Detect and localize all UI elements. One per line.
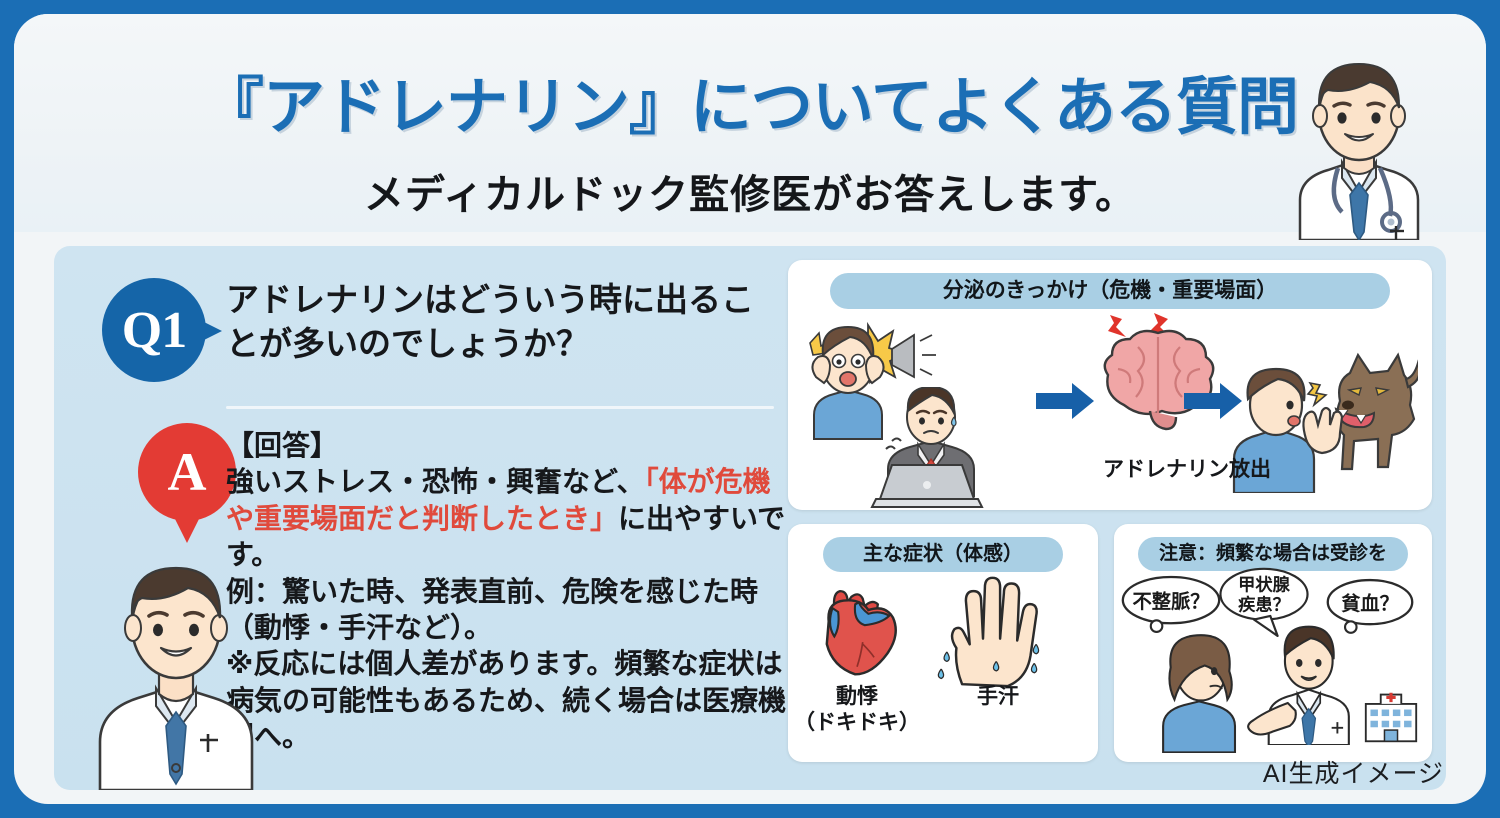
symptom-label-1: 動悸 （ドキドキ）	[792, 684, 922, 737]
poster-inner-frame: 『アドレナリン』についてよくある質問 メディカルドック監修医がお答えします。	[14, 14, 1486, 804]
figure-column: 分泌のきっかけ（危機・重要場面）	[788, 260, 1432, 776]
symptom-label-1-line1: 動悸	[836, 685, 878, 708]
symptom-label-1-line2: （ドキドキ）	[794, 711, 920, 734]
svg-text:疾患？: 疾患？	[1238, 594, 1290, 614]
poster-root: 『アドレナリン』についてよくある質問 メディカルドック監修医がお答えします。	[0, 0, 1500, 818]
header: 『アドレナリン』についてよくある質問 メディカルドック監修医がお答えします。	[14, 14, 1486, 232]
card-trigger-title: 分泌のきっかけ（危機・重要場面）	[830, 273, 1390, 309]
card-symptoms-title: 主な症状（体感）	[823, 537, 1063, 572]
page-title: 『アドレナリン』についてよくある質問	[14, 56, 1486, 146]
patient-icon	[1148, 629, 1252, 753]
answer-note: ※反応には個人差があります。頻繁な症状は病気の可能性もあるため、続く場合は医療機…	[226, 648, 786, 752]
question-text: アドレナリンはどういう時に出ることが多いのでしょうか？	[226, 278, 771, 365]
symptom-label-2: 手汗	[938, 684, 1058, 710]
thought-bubble-1: 不整脈？	[1118, 573, 1224, 633]
laptop-icon	[870, 459, 990, 510]
doctor-body-icon	[90, 546, 262, 790]
sweaty-hand-icon	[926, 574, 1040, 688]
svg-text:甲状腺: 甲状腺	[1238, 574, 1290, 594]
main-panel: Q1 アドレナリンはどういう時に出ることが多いのでしょうか？ A 【回答】 強い…	[54, 246, 1446, 790]
answer-badge: A	[138, 423, 236, 521]
heart-icon	[806, 576, 910, 680]
card-caution-title: 注意：頻繁な場合は受診を	[1138, 537, 1408, 571]
qa-column: Q1 アドレナリンはどういう時に出ることが多いのでしょうか？ A 【回答】 強い…	[54, 246, 794, 790]
page-subtitle: メディカルドック監修医がお答えします。	[14, 162, 1486, 220]
footer-note: AI生成イメージ	[1263, 754, 1444, 790]
question-badge: Q1	[102, 278, 206, 382]
arrow-icon	[1036, 381, 1096, 421]
hospital-icon	[1358, 689, 1424, 745]
card-caution: 注意：頻繁な場合は受診を 不整脈？ 甲状腺	[1114, 524, 1432, 762]
card-caution-figure: 不整脈？ 甲状腺 疾患？ 貧血？	[1114, 571, 1432, 761]
answer-text: 【回答】 強いストレス・恐怖・興奮など、「体が危機や重要場面だと判断したとき」に…	[226, 428, 786, 756]
answer-label: 【回答】	[226, 430, 338, 461]
bubble-text-1: 不整脈？	[1132, 590, 1209, 613]
divider	[226, 406, 774, 409]
card-symptoms-figure: 動悸 （ドキドキ） 手汗	[788, 572, 1098, 762]
card-trigger: 分泌のきっかけ（危機・重要場面）	[788, 260, 1432, 510]
svg-text:貧血？: 貧血？	[1341, 592, 1399, 615]
answer-line-pre: 強いストレス・恐怖・興奮など、	[226, 466, 645, 497]
doctor-icon	[1242, 621, 1366, 745]
card-symptoms: 主な症状（体感）	[788, 524, 1098, 762]
answer-example: 例：驚いた時、発表直前、危険を感じた時（動悸・手汗など）。	[226, 576, 758, 643]
doctor-avatar-icon	[1270, 50, 1450, 236]
brain-icon	[1088, 313, 1238, 443]
trigger-caption: アドレナリン放出	[1062, 457, 1312, 483]
card-trigger-figure: アドレナリン放出	[788, 309, 1432, 504]
